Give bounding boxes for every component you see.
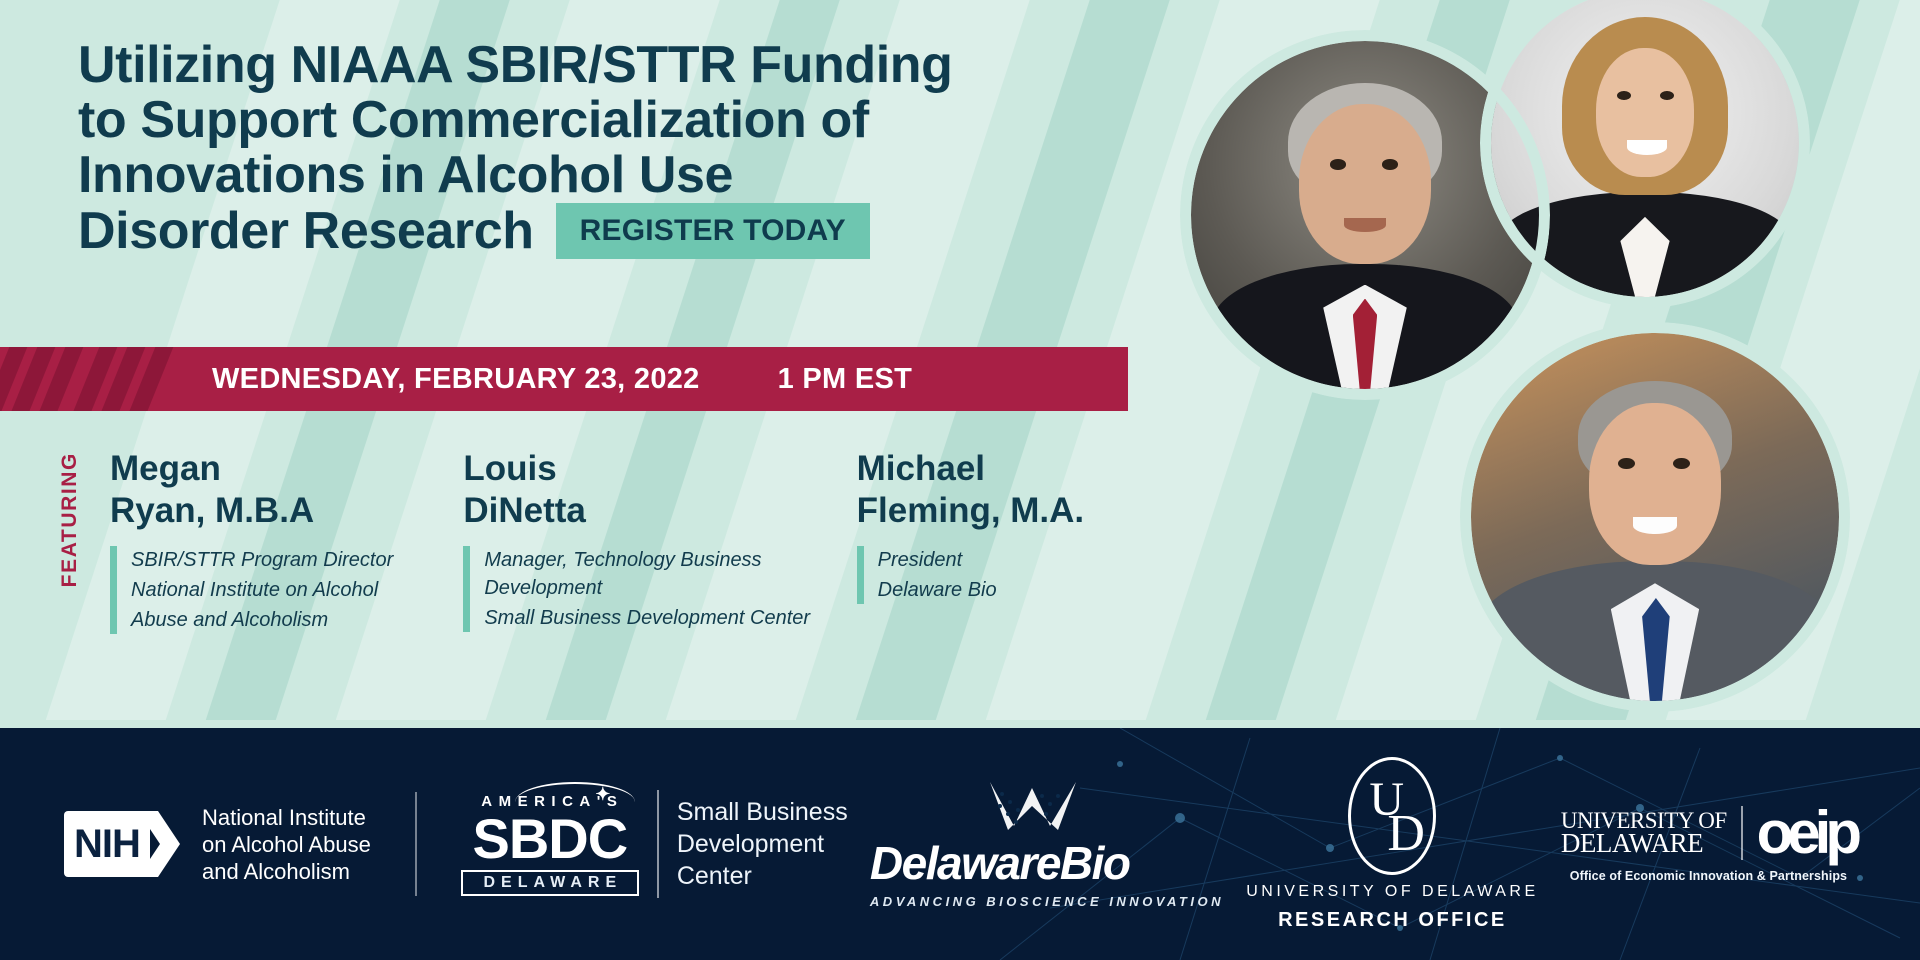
speaker-name-line1: Louis xyxy=(463,448,834,490)
speaker-name-line2: DiNetta xyxy=(463,490,834,532)
speaker-card-1: Megan Ryan, M.B.A SBIR/STTR Program Dire… xyxy=(110,448,463,634)
speaker-role: SBIR/STTR Program Director xyxy=(131,546,441,574)
sbdc-acronym: SBDC xyxy=(461,810,639,868)
register-today-button[interactable]: REGISTER TODAY xyxy=(556,203,870,259)
headshot-michael-fleming xyxy=(1460,322,1850,712)
speaker-org-line1: Delaware Bio xyxy=(878,576,1188,604)
speaker-meta: SBIR/STTR Program Director National Inst… xyxy=(110,546,441,634)
ud-research-office-line: RESEARCH OFFICE xyxy=(1278,909,1507,932)
event-date-bar: WEDNESDAY, FEBRUARY 23, 2022 1 PM EST xyxy=(0,347,1128,411)
nih-arrow-icon xyxy=(138,811,180,877)
oeip-tagline: Office of Economic Innovation & Partners… xyxy=(1570,869,1847,883)
sbdc-divider xyxy=(657,790,659,898)
ud-monogram-icon: U D xyxy=(1348,757,1436,875)
logo-americas-sbdc-delaware: ✦ AMERICA'S SBDC DELAWARE Small Business… xyxy=(461,790,848,898)
speaker-meta: President Delaware Bio xyxy=(857,546,1188,604)
title-line-2: to Support Commercialization of xyxy=(78,93,1198,148)
oeip-ud-wordmark: UNIVERSITY OF DELAWARE xyxy=(1561,810,1727,856)
logo-ud-oeip: UNIVERSITY OF DELAWARE oeip Office of Ec… xyxy=(1561,806,1856,883)
title-line-4: Disorder Research xyxy=(78,204,534,259)
title-line-1: Utilizing NIAAA SBIR/STTR Funding xyxy=(78,38,1198,93)
speaker-card-2: Louis DiNetta Manager, Technology Busine… xyxy=(463,448,856,634)
date-bar-chevron-icon xyxy=(0,347,210,411)
title-line-3: Innovations in Alcohol Use xyxy=(78,148,1198,203)
oeip-divider xyxy=(1741,806,1743,860)
title-block: Utilizing NIAAA SBIR/STTR Funding to Sup… xyxy=(78,38,1198,259)
sbdc-full-name: Small Business Development Center xyxy=(677,796,848,892)
speaker-meta: Manager, Technology Business Development… xyxy=(463,546,834,632)
sbdc-swoosh-icon xyxy=(515,782,635,802)
logo-nih-niaaa: NIH National Institute on Alcohol Abuse … xyxy=(64,804,371,885)
speaker-name-line1: Michael xyxy=(857,448,1188,490)
sbdc-americas-text: ✦ AMERICA'S xyxy=(461,793,639,810)
speaker-card-3: Michael Fleming, M.A. President Delaware… xyxy=(857,448,1210,634)
speakers-list: Megan Ryan, M.B.A SBIR/STTR Program Dire… xyxy=(110,448,1210,634)
event-time: 1 PM EST xyxy=(778,363,913,396)
speaker-name-line2: Ryan, M.B.A xyxy=(110,490,441,532)
speaker-org-line1: National Institute on Alcohol xyxy=(131,576,441,604)
event-date: WEDNESDAY, FEBRUARY 23, 2022 xyxy=(212,363,700,396)
speaker-org-line2: Abuse and Alcoholism xyxy=(131,606,441,634)
footer-divider xyxy=(415,792,417,896)
delawarebio-wing-icon xyxy=(980,780,1130,836)
speaker-headshots xyxy=(1160,0,1920,740)
sbdc-state: DELAWARE xyxy=(461,870,639,896)
speaker-role: President xyxy=(878,546,1188,574)
delawarebio-tagline: ADVANCING BIOSCIENCE INNOVATION xyxy=(870,894,1224,909)
ud-university-line: UNIVERSITY OF DELAWARE xyxy=(1246,883,1538,901)
nih-mark-icon: NIH xyxy=(64,811,180,877)
speaker-org-line1: Small Business Development Center xyxy=(484,604,834,632)
speaker-name-line2: Fleming, M.A. xyxy=(857,490,1188,532)
nih-institute-name: National Institute on Alcohol Abuse and … xyxy=(202,804,371,885)
logo-delaware-bio: DelawareBio ADVANCING BIOSCIENCE INNOVAT… xyxy=(870,780,1224,909)
logo-ud-research-office: U D UNIVERSITY OF DELAWARE RESEARCH OFFI… xyxy=(1246,757,1538,932)
sbdc-star-icon: ✦ xyxy=(595,784,617,805)
speaker-role-line2: Development xyxy=(484,574,834,602)
webinar-promo-banner: Utilizing NIAAA SBIR/STTR Funding to Sup… xyxy=(0,0,1920,960)
featuring-label: FEATURING xyxy=(58,452,82,587)
speaker-name-line1: Megan xyxy=(110,448,441,490)
sponsor-logo-footer: NIH National Institute on Alcohol Abuse … xyxy=(0,728,1920,960)
speaker-role: Manager, Technology Business xyxy=(484,546,834,574)
title-line-4-row: Disorder Research REGISTER TODAY xyxy=(78,203,1198,259)
nih-acronym: NIH xyxy=(74,823,140,865)
oeip-wordmark: oeip xyxy=(1757,809,1856,857)
delawarebio-name: DelawareBio xyxy=(870,836,1130,890)
headshot-megan-ryan xyxy=(1480,0,1810,308)
